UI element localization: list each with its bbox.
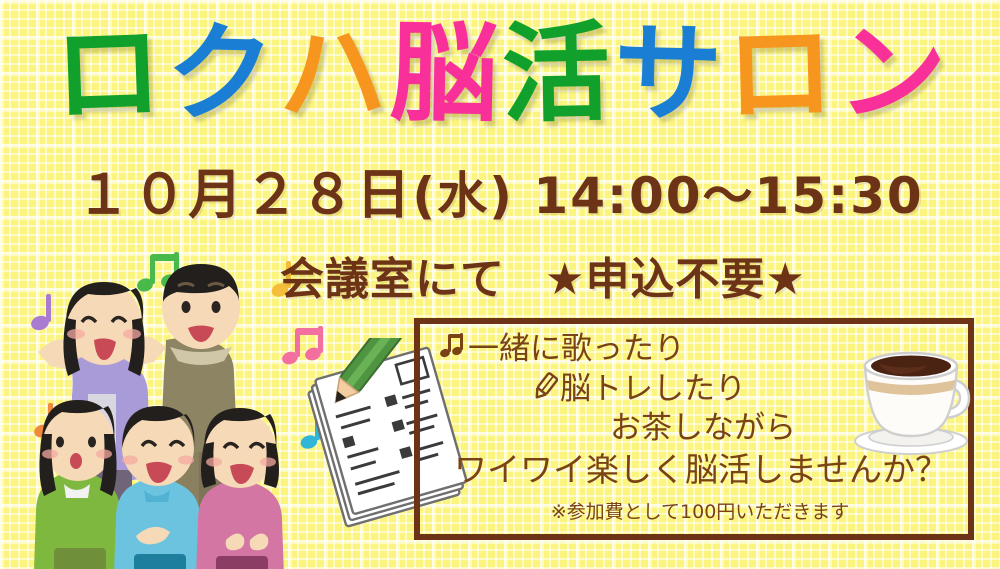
title-char: ロ bbox=[52, 19, 164, 131]
event-date: １０月２８日 bbox=[76, 163, 412, 226]
title-char: 活 bbox=[501, 20, 611, 130]
fee-note: ※参加費として100円いただきます bbox=[420, 500, 980, 524]
title-char: ン bbox=[836, 19, 948, 131]
event-weekday: (水) bbox=[412, 167, 514, 225]
detail-line-1-text: 一緒に歌ったり bbox=[468, 331, 685, 367]
venue-and-badge-line: 会議室にて★申込不要★ bbox=[280, 243, 920, 307]
pencil-icon bbox=[530, 371, 560, 401]
poster-canvas: ロ ク ハ 脳 活 サ ロ ン １０月２８日(水) 14:00〜15:30 会議… bbox=[0, 0, 1000, 569]
title-char: ロ bbox=[725, 20, 836, 131]
poster-title: ロ ク ハ 脳 活 サ ロ ン bbox=[0, 16, 1000, 134]
no-reservation-badge: ★申込不要★ bbox=[545, 254, 806, 305]
singing-group-illustration bbox=[18, 252, 328, 569]
event-datetime: １０月２８日(水) 14:00〜15:30 bbox=[0, 150, 1000, 229]
person-girl-green bbox=[34, 400, 122, 569]
title-char: ク bbox=[165, 20, 276, 131]
title-char: サ bbox=[613, 20, 724, 131]
title-char: 脳 bbox=[389, 20, 499, 130]
event-time: 14:00〜15:30 bbox=[533, 167, 923, 225]
coffee-cup-illustration bbox=[845, 342, 985, 462]
music-note-icon bbox=[438, 331, 468, 361]
detail-line-2-text: 脳トレしたり bbox=[560, 371, 746, 407]
title-char: ハ bbox=[277, 20, 388, 131]
